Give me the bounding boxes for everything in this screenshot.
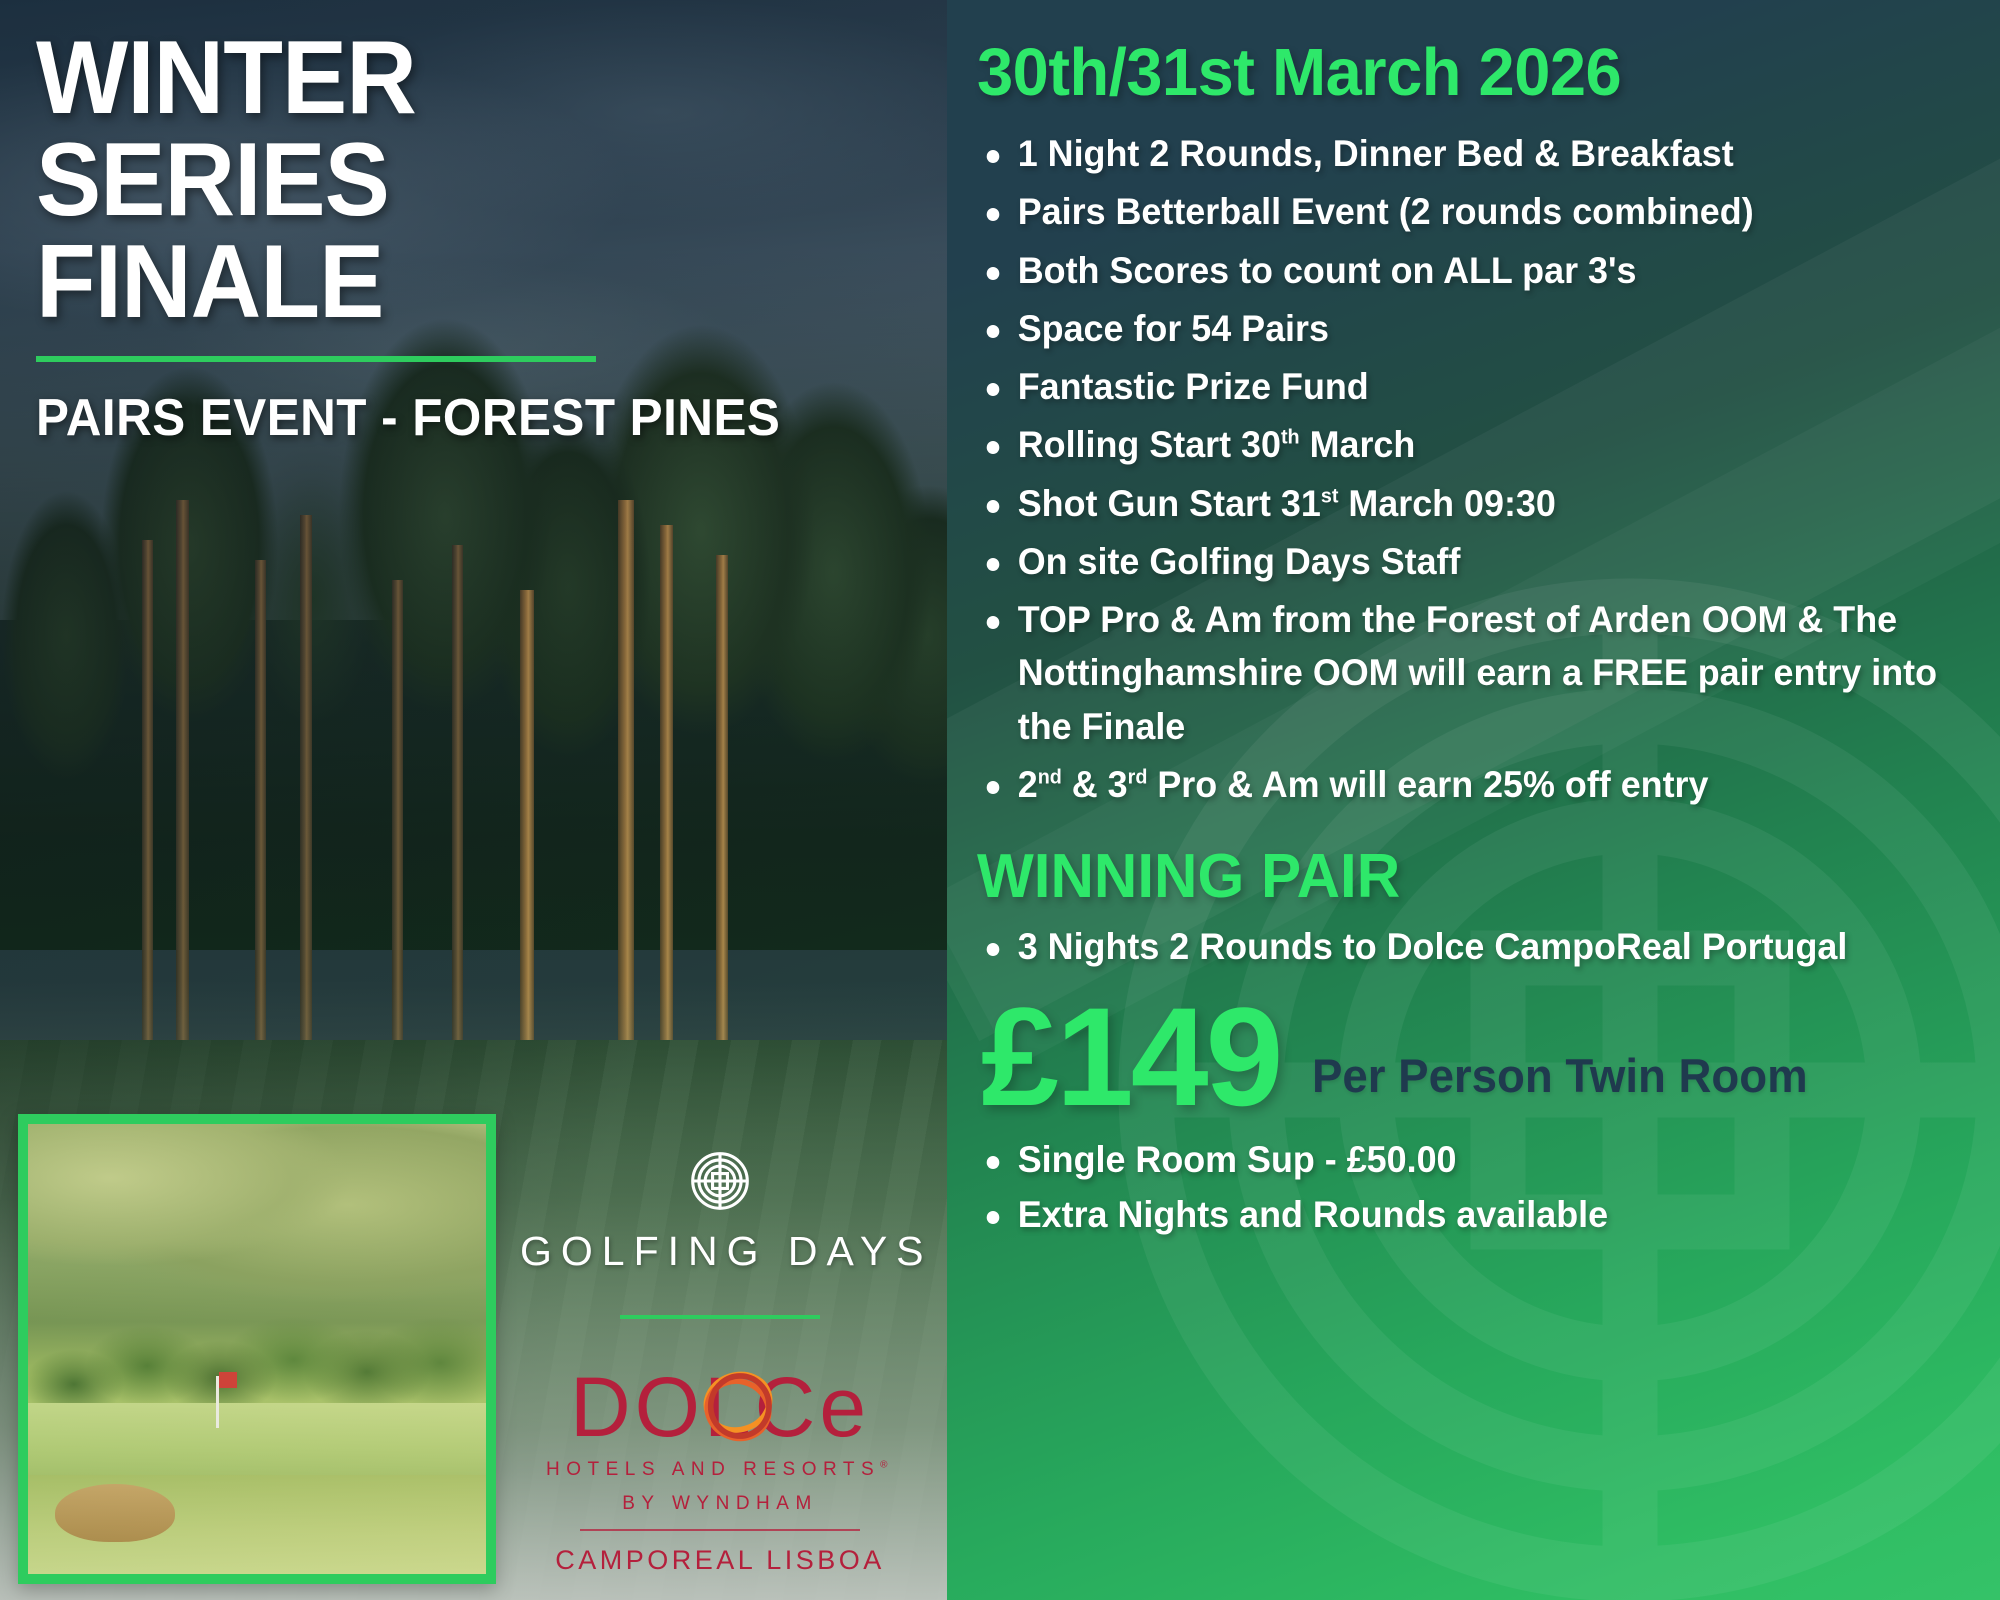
list-item: Single Room Sup - £50.00 [977,1133,1940,1186]
list-item: Pairs Betterball Event (2 rounds combine… [977,185,1940,238]
price-row: £149 Per Person Twin Room [981,995,1970,1118]
list-item: Both Scores to count on ALL par 3's [977,244,1940,297]
list-item: 1 Night 2 Rounds, Dinner Bed & Breakfast [977,127,1940,180]
dolce-divider [580,1529,860,1531]
list-item: 3 Nights 2 Rounds to Dolce CampoReal Por… [977,920,1940,973]
list-item: Fantastic Prize Fund [977,360,1940,413]
title-block: WINTER SERIES FINALE PAIRS EVENT - FORES… [36,28,916,448]
event-date-heading: 30th/31st March 2026 [977,34,1940,111]
event-subtitle: PAIRS EVENT - FOREST PINES [36,388,872,448]
sponsor-divider [620,1315,820,1319]
camporeal-inset-image [18,1114,496,1584]
winning-pair-list: 3 Nights 2 Rounds to Dolce CampoReal Por… [977,920,1970,973]
list-item: On site Golfing Days Staff [977,535,1940,588]
list-item: TOP Pro & Am from the Forest of Arden OO… [977,593,1940,753]
price-amount: £149 [981,995,1280,1118]
golfing-days-wordmark: GOLFING DAYS [520,1228,920,1275]
dolce-property-name: CAMPOREAL LISBOA [520,1545,920,1576]
details-content: 30th/31st March 2026 1 Night 2 Rounds, D… [947,0,2000,1241]
dolce-tagline-wyndham: BY WYNDHAM [520,1493,920,1515]
extras-list: Single Room Sup - £50.00 Extra Nights an… [977,1133,1970,1242]
title-line-2: SERIES [36,130,863,232]
sponsor-logos: GOLFING DAYS DOLCe HOTELS AND RESORTS® B… [520,1150,920,1576]
list-item: Space for 54 Pairs [977,302,1940,355]
left-panel: WINTER SERIES FINALE PAIRS EVENT - FORES… [0,0,947,1600]
event-details-list: 1 Night 2 Rounds, Dinner Bed & Breakfast… [977,127,1970,811]
title-line-1: WINTER [36,28,863,130]
list-item: Extra Nights and Rounds available [977,1188,1940,1241]
inset-warm-overlay [28,1124,486,1574]
event-poster: WINTER SERIES FINALE PAIRS EVENT - FORES… [0,0,2000,1600]
dolce-wordmark: DOLCe [570,1365,870,1449]
list-item: Rolling Start 30th March [977,418,1940,471]
dolce-wordmark-text: DOLCe [570,1360,870,1454]
price-note: Per Person Twin Room [1312,1048,1808,1103]
dolce-tagline-hotels: HOTELS AND RESORTS® [520,1459,920,1481]
golfing-days-monogram-icon [689,1150,751,1212]
right-panel: 30th/31st March 2026 1 Night 2 Rounds, D… [947,0,2000,1600]
list-item: Shot Gun Start 31st March 09:30 [977,477,1940,530]
title-line-3: FINALE [36,232,863,334]
winning-pair-heading: WINNING PAIR [977,841,1940,912]
list-item: 2nd & 3rd Pro & Am will earn 25% off ent… [977,758,1940,811]
dolce-logo: DOLCe HOTELS AND RESORTS® BY WYNDHAM CAM… [520,1365,920,1576]
title-divider [36,356,596,362]
